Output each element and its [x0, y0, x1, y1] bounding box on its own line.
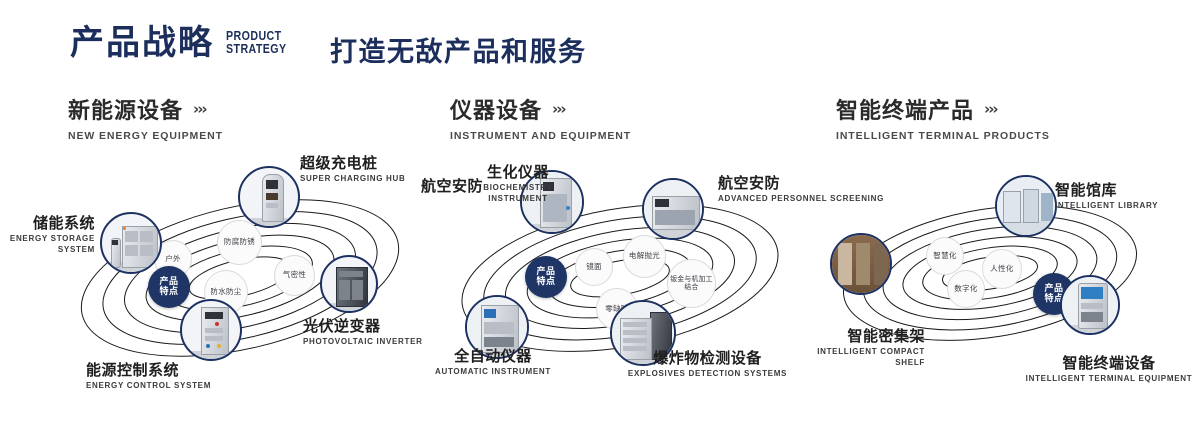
label-cn: 生化仪器 [466, 164, 570, 181]
center-bubble-line2: 特点 [159, 287, 178, 297]
label-en: ENERGY STORAGE SYSTEM [0, 234, 95, 255]
label-cn: 爆炸物检测设备 [625, 350, 790, 367]
page-title-en: PRODUCT STRATEGY [226, 30, 287, 55]
label-en: INTELLIGENT TERMINAL EQUIPMENT [1020, 374, 1198, 384]
label-photovoltaic-inverter: 光伏逆变器 PHOTOVOLTAIC INVERTER [303, 318, 423, 348]
feature-label: 数字化 [954, 285, 977, 294]
node-compact-shelf [830, 233, 892, 295]
label-terminal-kiosk: 智能终端设备 INTELLIGENT TERMINAL EQUIPMENT [1020, 355, 1198, 385]
section-title-en-new-energy: NEW ENERGY EQUIPMENT [68, 130, 223, 142]
chevron-right-icon: ››› [193, 100, 206, 118]
label-cn: 全自动仪器 [428, 348, 558, 365]
label-en: SUPER CHARGING HUB [300, 174, 406, 184]
label-super-charging-hub: 超级充电桩 SUPER CHARGING HUB [300, 155, 406, 185]
center-bubble-line1: 产品 [159, 277, 178, 287]
feature-bubble-airtight: 气密性 [274, 255, 315, 296]
section-heading-new-energy: 新能源设备 ››› NEW ENERGY EQUIPMENT [68, 93, 223, 142]
section-title-text-intelligent: 智能终端产品 [836, 93, 974, 125]
feature-label: 防腐防锈 [224, 238, 255, 247]
center-bubble-line2: 特点 [536, 277, 555, 287]
label-automatic-instrument: 全自动仪器 AUTOMATIC INSTRUMENT [428, 348, 558, 378]
photo-energy-storage-cabinet [102, 214, 160, 272]
section-heading-instrument: 仪器设备 ››› INSTRUMENT AND EQUIPMENT [450, 93, 631, 142]
product-strategy-infographic: 产品战略 PRODUCT STRATEGY 打造无敌产品和服务 新能源设备 ››… [0, 0, 1200, 422]
photo-terminal-kiosk [1062, 277, 1118, 333]
label-en: INTELLIGENT LIBRARY [1055, 201, 1158, 211]
section-title-en-instrument: INSTRUMENT AND EQUIPMENT [450, 130, 631, 142]
section-title-cn-new-energy: 新能源设备 ››› [68, 93, 223, 125]
node-terminal-kiosk [1060, 275, 1120, 335]
node-energy-storage-system [100, 212, 162, 274]
label-cn: 光伏逆变器 [303, 318, 423, 335]
label-cn: 智能终端设备 [1020, 355, 1198, 372]
label-cn: 智能密集架 [790, 328, 925, 345]
node-super-charging-hub [238, 166, 300, 228]
label-cn: 能源控制系统 [86, 362, 211, 379]
section-title-cn-instrument: 仪器设备 ››› [450, 93, 631, 125]
feature-label: 钣金与机加工结合 [668, 276, 715, 292]
label-en: INTELLIGENT COMPACT SHELF [790, 347, 925, 368]
feature-bubble-sheetmetal-machining: 钣金与机加工结合 [667, 259, 716, 308]
cluster-new-energy: 户外 防腐防锈 防水防尘 气密性 产品 特点 [40, 160, 440, 390]
feature-bubble-anticorrosion: 防腐防锈 [217, 220, 262, 265]
node-photovoltaic-inverter [320, 255, 378, 313]
label-cn: 储能系统 [0, 215, 95, 232]
page-tagline: 打造无敌产品和服务 [330, 30, 587, 69]
feature-label: 户外 [165, 255, 181, 264]
photo-inverter-cabinet [322, 257, 376, 311]
page-header: 产品战略 PRODUCT STRATEGY [70, 26, 300, 60]
photo-smart-library [997, 177, 1055, 235]
page-title-cn: 产品战略 [70, 26, 214, 60]
label-compact-shelf: 智能密集架 INTELLIGENT COMPACT SHELF [790, 328, 925, 368]
section-title-en-intelligent: INTELLIGENT TERMINAL PRODUCTS [836, 130, 1050, 142]
node-personnel-screening [642, 178, 704, 240]
photo-charging-pile [240, 168, 298, 226]
section-heading-intelligent: 智能终端产品 ››› INTELLIGENT TERMINAL PRODUCTS [836, 93, 1050, 142]
feature-label: 电解抛光 [629, 252, 660, 261]
label-biochemistry-instrument: 生化仪器 BIOCHEMISTRY INSTRUMENT [466, 164, 570, 204]
label-explosives-detector: 爆炸物检测设备 EXPLOSIVES DETECTION SYSTEMS [625, 350, 790, 380]
section-title-text-instrument: 仪器设备 [450, 93, 542, 125]
feature-bubble-digital: 数字化 [947, 270, 985, 308]
feature-label: 防水防尘 [210, 288, 241, 297]
label-en: ENERGY CONTROL SYSTEM [86, 381, 211, 391]
page-title-en-line2: STRATEGY [226, 43, 287, 56]
feature-bubble-electropolishing: 电解抛光 [623, 235, 666, 278]
feature-label: 人性化 [990, 265, 1013, 274]
section-title-cn-intelligent: 智能终端产品 ››› [836, 93, 1050, 125]
label-smart-library: 智能馆库 INTELLIGENT LIBRARY [1055, 182, 1158, 212]
label-en: PHOTOVOLTAIC INVERTER [303, 337, 423, 347]
node-energy-control-system [180, 299, 242, 361]
chevron-right-icon: ››› [552, 100, 565, 118]
center-bubble-line1: 产品 [1044, 284, 1063, 294]
feature-label: 镜面 [586, 263, 602, 272]
node-smart-library [995, 175, 1057, 237]
chevron-right-icon: ››› [984, 100, 997, 118]
feature-label: 智慧化 [933, 252, 956, 261]
section-title-text-new-energy: 新能源设备 [68, 93, 183, 125]
center-bubble-line1: 产品 [536, 267, 555, 277]
label-cn: 超级充电桩 [300, 155, 406, 172]
photo-control-cabinet [182, 301, 240, 359]
feature-bubble-mirror: 镜面 [575, 248, 613, 286]
photo-personnel-screening [644, 180, 702, 238]
feature-bubble-humanized: 人性化 [982, 249, 1022, 289]
label-energy-storage-system: 储能系统 ENERGY STORAGE SYSTEM [0, 215, 95, 255]
label-cn: 智能馆库 [1055, 182, 1158, 199]
label-en: EXPLOSIVES DETECTION SYSTEMS [625, 369, 790, 379]
photo-compact-shelf [832, 235, 890, 293]
label-en: BIOCHEMISTRY INSTRUMENT [466, 183, 570, 204]
label-en: AUTOMATIC INSTRUMENT [428, 367, 558, 377]
feature-label: 气密性 [283, 271, 306, 280]
label-energy-control-system: 能源控制系统 ENERGY CONTROL SYSTEM [86, 362, 211, 392]
center-bubble-product-features: 产品 特点 [525, 256, 567, 298]
feature-bubble-intelligent: 智慧化 [926, 237, 964, 275]
